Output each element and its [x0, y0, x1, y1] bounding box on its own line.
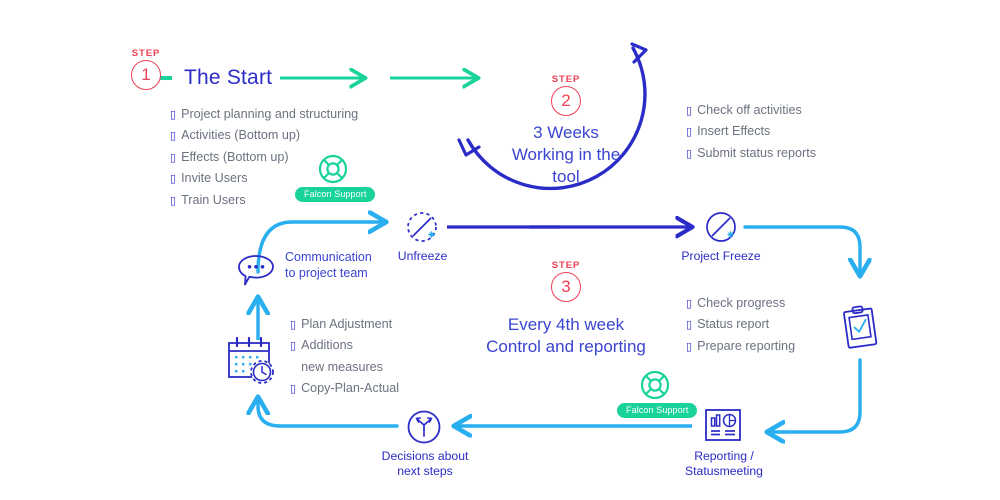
- project-freeze-label: Project Freeze: [660, 249, 782, 264]
- list-item-label: Effects (Bottom up): [181, 147, 289, 167]
- plan-task-list: ▯ Plan Adjustment ▯ Additions ▯ new meas…: [290, 314, 399, 400]
- list-item-label: Submit status reports: [697, 143, 816, 163]
- list-item-label: Check off activities: [697, 100, 802, 120]
- step-3-title: Every 4th week Control and reporting: [456, 314, 676, 358]
- step-2-title-line1: 3 Weeks: [466, 122, 666, 144]
- control-task-list: ▯ Check progress ▯ Status report ▯ Prepa…: [686, 293, 795, 357]
- lifebuoy-icon: [316, 152, 350, 186]
- communication-label-line2: to project team: [285, 266, 372, 282]
- step-2-title: 3 Weeks Working in the tool: [466, 122, 666, 188]
- list-item: ▯ Insert Effects: [686, 121, 816, 142]
- unfreeze-node[interactable]: [403, 208, 441, 246]
- list-item-label: new measures: [301, 357, 383, 377]
- step-2-word: STEP: [531, 74, 601, 85]
- list-item: ▯ new measures: [290, 357, 399, 378]
- step-2-title-line2: Working in the: [466, 144, 666, 166]
- list-item-label: Copy-Plan-Actual: [301, 378, 399, 398]
- decisions-label: Decisions about next steps: [366, 449, 484, 479]
- decisions-label-line2: next steps: [366, 464, 484, 479]
- connector-decisions-to-calendar: [258, 398, 397, 426]
- unfreeze-icon: [403, 208, 441, 246]
- falcon-support-label: Falcon Support: [617, 403, 697, 418]
- bullet-icon: ▯: [290, 336, 296, 356]
- step-3-badge: STEP 3: [531, 260, 601, 302]
- list-item: ▯ Activities (Bottom up): [170, 125, 358, 146]
- list-item: ▯ Additions: [290, 335, 399, 356]
- checklist-node[interactable]: [838, 302, 884, 352]
- reporting-node[interactable]: [702, 407, 744, 447]
- decisions-node[interactable]: [404, 407, 444, 447]
- list-item: ▯ Plan Adjustment: [290, 314, 399, 335]
- project-freeze-node[interactable]: [702, 208, 740, 246]
- bullet-icon: ▯: [170, 191, 176, 211]
- bullet-icon: ▯: [290, 315, 296, 335]
- step-3-title-line1: Every 4th week: [456, 314, 676, 336]
- step-2-number: 2: [551, 86, 581, 116]
- list-item: ▯ Submit status reports: [686, 143, 816, 164]
- list-item: ▯ Copy-Plan-Actual: [290, 378, 399, 399]
- bullet-icon: ▯: [290, 379, 296, 399]
- step-1-number: 1: [131, 60, 161, 90]
- falcon-support-label: Falcon Support: [295, 187, 375, 202]
- bullet-icon: ▯: [686, 315, 692, 335]
- list-item: ▯ Status report: [686, 314, 795, 335]
- step-2-title-line3: tool: [466, 166, 666, 188]
- decision-fork-icon: [404, 407, 444, 447]
- list-item-label: Prepare reporting: [697, 336, 795, 356]
- chat-bubble-icon: [233, 250, 279, 292]
- communication-node[interactable]: [233, 250, 279, 292]
- list-item-label: Invite Users: [181, 168, 248, 188]
- list-item: ▯ Prepare reporting: [686, 336, 795, 357]
- step-1-badge: STEP 1: [111, 48, 181, 90]
- list-item-label: Activities (Bottom up): [181, 125, 300, 145]
- bullet-icon: ▯: [686, 101, 692, 121]
- list-item-label: Train Users: [181, 190, 246, 210]
- step-2-badge: STEP 2: [531, 74, 601, 116]
- list-item-label: Status report: [697, 314, 769, 334]
- step-1-word: STEP: [111, 48, 181, 59]
- list-item-label: Project planning and structuring: [181, 104, 358, 124]
- report-chart-icon: [702, 407, 744, 447]
- process-diagram: STEP 1 The Start ▯ Project planning and …: [0, 0, 1000, 500]
- working-task-list: ▯ Check off activities ▯ Insert Effects …: [686, 100, 816, 164]
- communication-label-line1: Communication: [285, 250, 372, 266]
- lifebuoy-icon: [638, 368, 672, 402]
- step-3-title-line2: Control and reporting: [456, 336, 676, 358]
- clipboard-check-icon: [838, 302, 884, 352]
- list-item-label: Check progress: [697, 293, 785, 313]
- list-item-label: Plan Adjustment: [301, 314, 392, 334]
- step-1-title: The Start: [184, 66, 272, 90]
- unfreeze-label: Unfreeze: [375, 249, 470, 264]
- connector-checklist-to-reporting: [768, 360, 860, 432]
- bullet-icon: ▯: [170, 169, 176, 189]
- freeze-icon: [702, 208, 740, 246]
- falcon-support-badge-bottom[interactable]: Falcon Support: [617, 368, 693, 418]
- list-item-label: Additions: [301, 335, 353, 355]
- decisions-label-line1: Decisions about: [366, 449, 484, 464]
- reporting-label-line1: Reporting /: [665, 449, 783, 464]
- step-3-word: STEP: [531, 260, 601, 271]
- communication-label: Communication to project team: [285, 250, 372, 281]
- list-item: ▯ Check progress: [686, 293, 795, 314]
- bullet-icon: ▯: [686, 122, 692, 142]
- bullet-icon: ▯: [686, 294, 692, 314]
- list-item: ▯ Check off activities: [686, 100, 816, 121]
- list-item: ▯ Project planning and structuring: [170, 104, 358, 125]
- bullet-icon: ▯: [686, 144, 692, 164]
- bullet-icon: ▯: [170, 126, 176, 146]
- bullet-icon: ▯: [686, 337, 692, 357]
- calendar-node[interactable]: [222, 334, 284, 390]
- calendar-clock-icon: [222, 334, 284, 390]
- falcon-support-badge-top[interactable]: Falcon Support: [295, 152, 371, 202]
- reporting-label: Reporting / Statusmeeting: [665, 449, 783, 479]
- list-item-label: Insert Effects: [697, 121, 770, 141]
- reporting-label-line2: Statusmeeting: [665, 464, 783, 479]
- bullet-icon: ▯: [170, 105, 176, 125]
- bullet-icon: ▯: [170, 148, 176, 168]
- step-3-number: 3: [551, 272, 581, 302]
